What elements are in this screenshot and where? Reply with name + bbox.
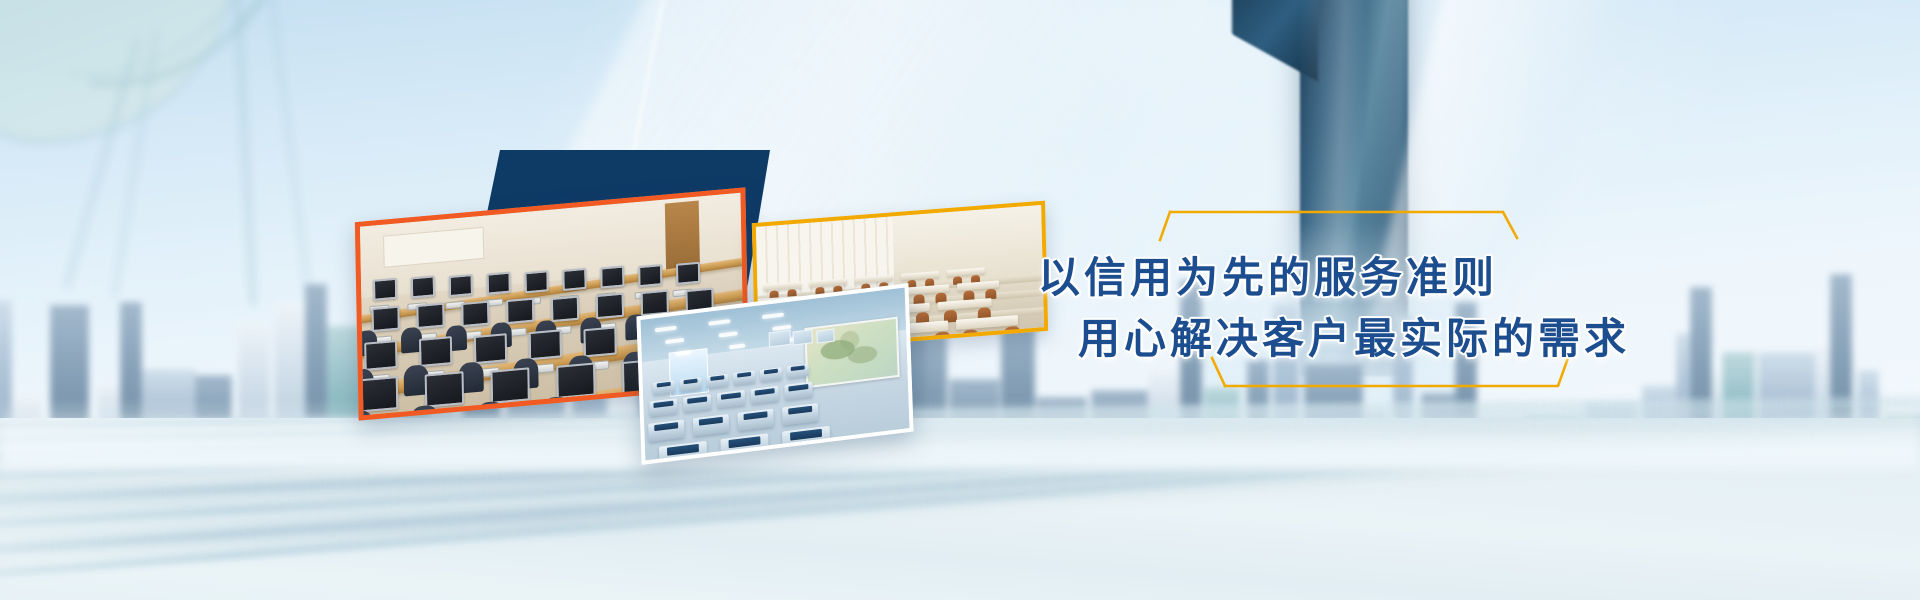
lab-door: [664, 200, 700, 271]
lab-monitor: [416, 303, 444, 330]
lab-monitor: [529, 329, 562, 360]
console-screen: [788, 405, 813, 414]
classroom-chair: [934, 331, 950, 346]
wall-map: [804, 317, 900, 389]
slogan-lines: 以信用为先的服务准则 用心解决客户最实际的需求: [1020, 200, 1660, 400]
control-room-scene: [641, 288, 910, 461]
lab-monitor: [359, 376, 398, 413]
classroom-chair: [962, 329, 978, 344]
lab-monitor: [676, 262, 700, 285]
lab-monitor: [556, 362, 595, 399]
console-screen: [790, 429, 823, 440]
lab-monitor: [411, 275, 435, 298]
lab-keyboard: [553, 401, 587, 414]
console-screen: [654, 422, 679, 431]
lab-chair: [541, 396, 572, 421]
classroom-chair: [1004, 326, 1020, 341]
lab-monitor: [364, 340, 397, 371]
lab-monitor: [373, 278, 397, 301]
lab-monitor: [449, 274, 473, 297]
console-screen: [654, 400, 673, 407]
console-screen: [683, 379, 698, 385]
wall-display: [792, 329, 812, 345]
console-screen: [743, 411, 768, 420]
lab-keyboard: [421, 410, 455, 421]
lab-chair: [607, 392, 638, 421]
console-screen: [790, 365, 805, 371]
lab-monitor: [371, 306, 399, 333]
lab-monitor: [524, 270, 548, 293]
promo-banner: 以信用为先的服务准则 用心解决客户最实际的需求: [0, 0, 1920, 600]
lab-monitor: [638, 264, 662, 287]
lab-monitor: [600, 265, 624, 288]
lab-monitor: [461, 301, 489, 328]
console-screen: [763, 369, 778, 375]
slogan-block: 以信用为先的服务准则 用心解决客户最实际的需求: [1020, 200, 1660, 400]
console-screen: [721, 392, 740, 399]
control-room-render[interactable]: [636, 283, 913, 465]
control-console-pod: [782, 426, 830, 454]
slogan-line-1: 以信用为先的服务准则: [1038, 244, 1498, 305]
lab-monitor: [583, 326, 616, 357]
lab-monitor: [425, 371, 464, 408]
lab-monitor: [490, 367, 529, 404]
lab-keyboard: [487, 406, 521, 419]
wall-display: [816, 328, 834, 343]
lab-monitor: [506, 298, 534, 325]
lab-monitor: [562, 268, 586, 291]
lab-monitor: [419, 336, 452, 367]
lab-monitor: [551, 296, 579, 323]
lab-monitor: [596, 293, 624, 320]
console-screen: [755, 388, 774, 395]
console-screen: [656, 382, 671, 388]
lab-monitor: [474, 333, 507, 364]
lab-monitor: [487, 272, 511, 295]
console-screen: [728, 436, 761, 447]
console-screen: [737, 372, 752, 378]
slogan-line-2: 用心解决客户最实际的需求: [1078, 305, 1630, 366]
console-screen: [667, 444, 700, 455]
console-screen: [688, 396, 707, 403]
control-console-pod: [720, 433, 768, 461]
console-screen: [710, 375, 725, 381]
wall-display: [769, 330, 791, 348]
console-screen: [789, 384, 808, 391]
lab-keyboard: [356, 415, 390, 421]
console-screen: [699, 416, 724, 425]
